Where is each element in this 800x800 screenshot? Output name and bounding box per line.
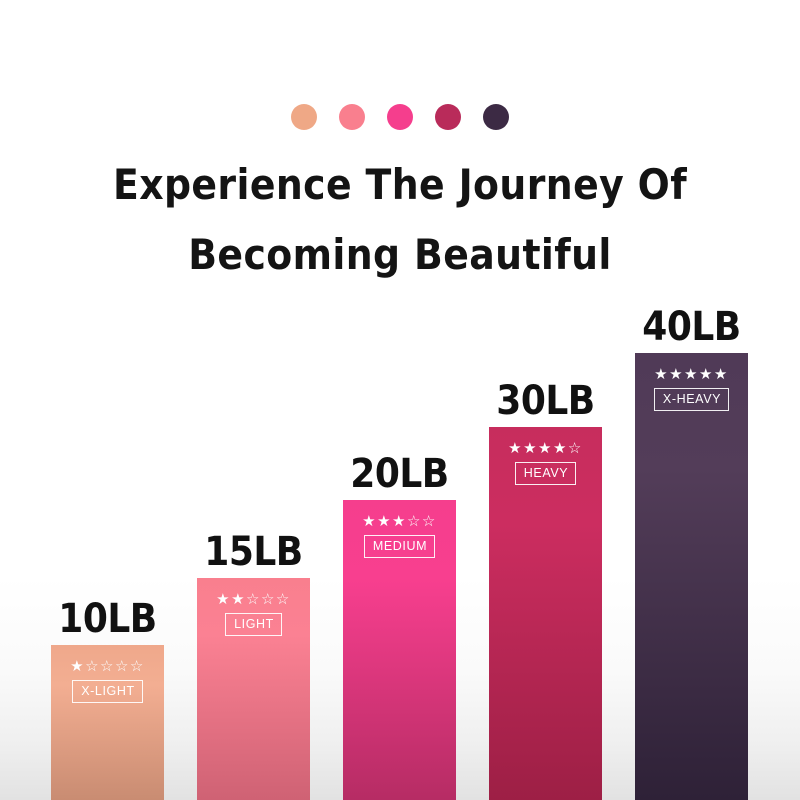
bar-meta: ★★★☆☆MEDIUM — [343, 500, 456, 558]
resistance-level-badge: HEAVY — [515, 462, 576, 485]
dot-medium — [387, 104, 413, 130]
resistance-level-badge: X-LIGHT — [72, 680, 143, 703]
bar-weight-label: 20LB — [335, 452, 464, 496]
resistance-level-badge: LIGHT — [225, 613, 282, 636]
bar-meta: ★★☆☆☆LIGHT — [197, 578, 310, 636]
bar-body: ★★★★☆HEAVY — [489, 427, 602, 800]
dot-light — [339, 104, 365, 130]
star-rating: ★★★★★ — [654, 367, 729, 382]
bar-meta: ★☆☆☆☆X-LIGHT — [51, 645, 164, 703]
resistance-level-badge: X-HEAVY — [654, 388, 729, 411]
bar-weight-label: 15LB — [189, 530, 318, 574]
bar-column-light[interactable]: 15LB★★☆☆☆LIGHT — [197, 578, 310, 800]
page-title-line-1: Experience The Journey Of — [0, 150, 800, 220]
bar-column-x-heavy[interactable]: 40LB★★★★★X-HEAVY — [635, 353, 748, 800]
star-rating: ★★★☆☆ — [362, 514, 437, 529]
bar-meta: ★★★★★X-HEAVY — [635, 353, 748, 411]
color-swatch-row — [0, 104, 800, 130]
resistance-level-badge: MEDIUM — [364, 535, 435, 558]
bar-weight-label: 30LB — [481, 379, 610, 423]
bar-body: ★★★☆☆MEDIUM — [343, 500, 456, 800]
bar-column-medium[interactable]: 20LB★★★☆☆MEDIUM — [343, 500, 456, 800]
bar-body: ★★☆☆☆LIGHT — [197, 578, 310, 800]
star-rating: ★★☆☆☆ — [216, 592, 291, 607]
bar-weight-label: 40LB — [627, 305, 756, 349]
star-rating: ★★★★☆ — [508, 441, 583, 456]
bar-column-heavy[interactable]: 30LB★★★★☆HEAVY — [489, 427, 602, 800]
bar-meta: ★★★★☆HEAVY — [489, 427, 602, 485]
bar-weight-label: 10LB — [43, 597, 172, 641]
bar-column-x-light[interactable]: 10LB★☆☆☆☆X-LIGHT — [51, 645, 164, 800]
page-title: Experience The Journey Of Becoming Beaut… — [0, 150, 800, 290]
bar-body: ★☆☆☆☆X-LIGHT — [51, 645, 164, 800]
dot-heavy — [435, 104, 461, 130]
dot-x-heavy — [483, 104, 509, 130]
star-rating: ★☆☆☆☆ — [70, 659, 145, 674]
page-title-line-2: Becoming Beautiful — [0, 220, 800, 290]
resistance-band-bar-chart: 10LB★☆☆☆☆X-LIGHT15LB★★☆☆☆LIGHT20LB★★★☆☆M… — [51, 290, 749, 800]
bar-body: ★★★★★X-HEAVY — [635, 353, 748, 800]
bar-fill — [635, 353, 748, 800]
dot-x-light — [291, 104, 317, 130]
